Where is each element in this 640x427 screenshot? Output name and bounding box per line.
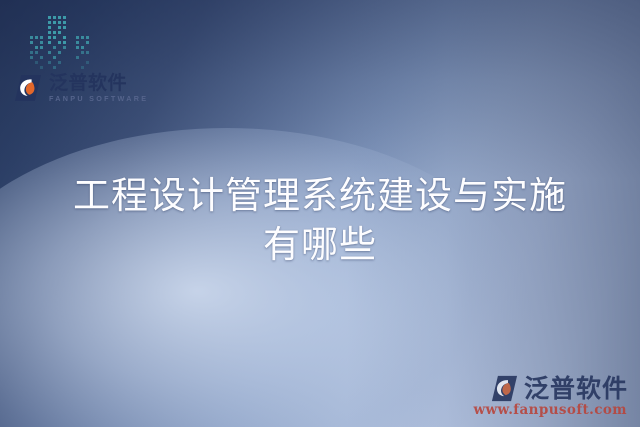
brand-name-en: FANPU SOFTWARE [49, 95, 148, 102]
watermark-logo-row: 泛普软件 [490, 374, 628, 403]
brand-wordmark: 泛普软件 FANPU SOFTWARE [49, 74, 148, 102]
pixel-city-skyline-icon [26, 10, 104, 72]
watermark-name-cn: 泛普软件 [524, 376, 628, 401]
slide-canvas: 泛普软件 FANPU SOFTWARE 工程设计管理系统建设与实施 有哪些 泛普… [0, 0, 640, 427]
brand-name-cn: 泛普软件 [49, 74, 148, 93]
page-title-line-2: 有哪些 [14, 221, 626, 269]
watermark: 泛普软件 www.fanpusoft.com [474, 374, 629, 418]
page-title: 工程设计管理系统建设与实施 有哪些 [0, 172, 640, 269]
fanpu-hexagon-swoosh-logo-icon [13, 73, 43, 103]
fanpu-hexagon-swoosh-logo-icon [490, 374, 519, 403]
page-title-line-1: 工程设计管理系统建设与实施 [14, 172, 626, 220]
brand-logo: 泛普软件 FANPU SOFTWARE [13, 73, 148, 103]
watermark-url: www.fanpusoft.com [474, 404, 628, 418]
